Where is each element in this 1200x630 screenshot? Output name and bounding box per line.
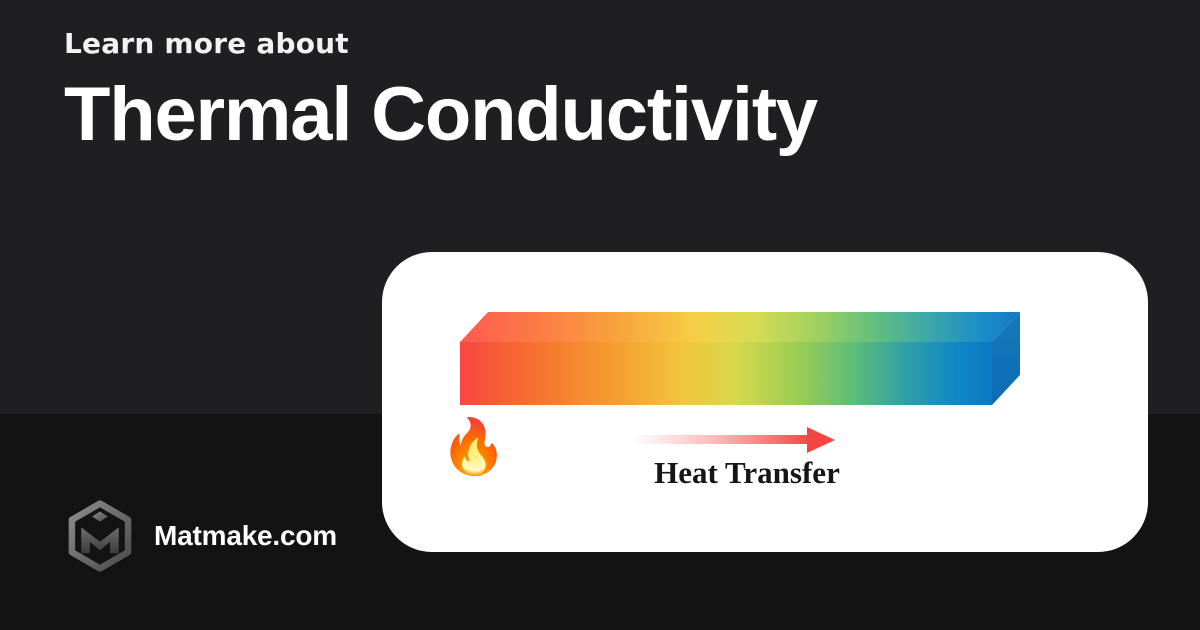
- conduction-bar: [460, 312, 1060, 422]
- bar-top-face: [460, 312, 1020, 342]
- arrow-shaft: [632, 435, 812, 444]
- brand-footer[interactable]: Matmake.com: [64, 500, 337, 572]
- matmake-cube-logo: [64, 500, 136, 572]
- brand-name: Matmake.com: [154, 522, 337, 550]
- fire-icon: 🔥: [440, 420, 507, 474]
- heat-transfer-label: Heat Transfer: [632, 457, 862, 488]
- arrow-head: [807, 427, 835, 453]
- social-card: Learn more about Thermal Conductivity 🔥 …: [0, 0, 1200, 630]
- illustration-card: 🔥 Heat Transfer: [382, 252, 1148, 552]
- right-arrow-icon: [632, 427, 842, 453]
- page-title: Thermal Conductivity: [64, 76, 884, 154]
- bar-front-face: [460, 342, 992, 405]
- eyebrow-text: Learn more about: [64, 30, 884, 58]
- headline-block: Learn more about Thermal Conductivity: [64, 30, 884, 154]
